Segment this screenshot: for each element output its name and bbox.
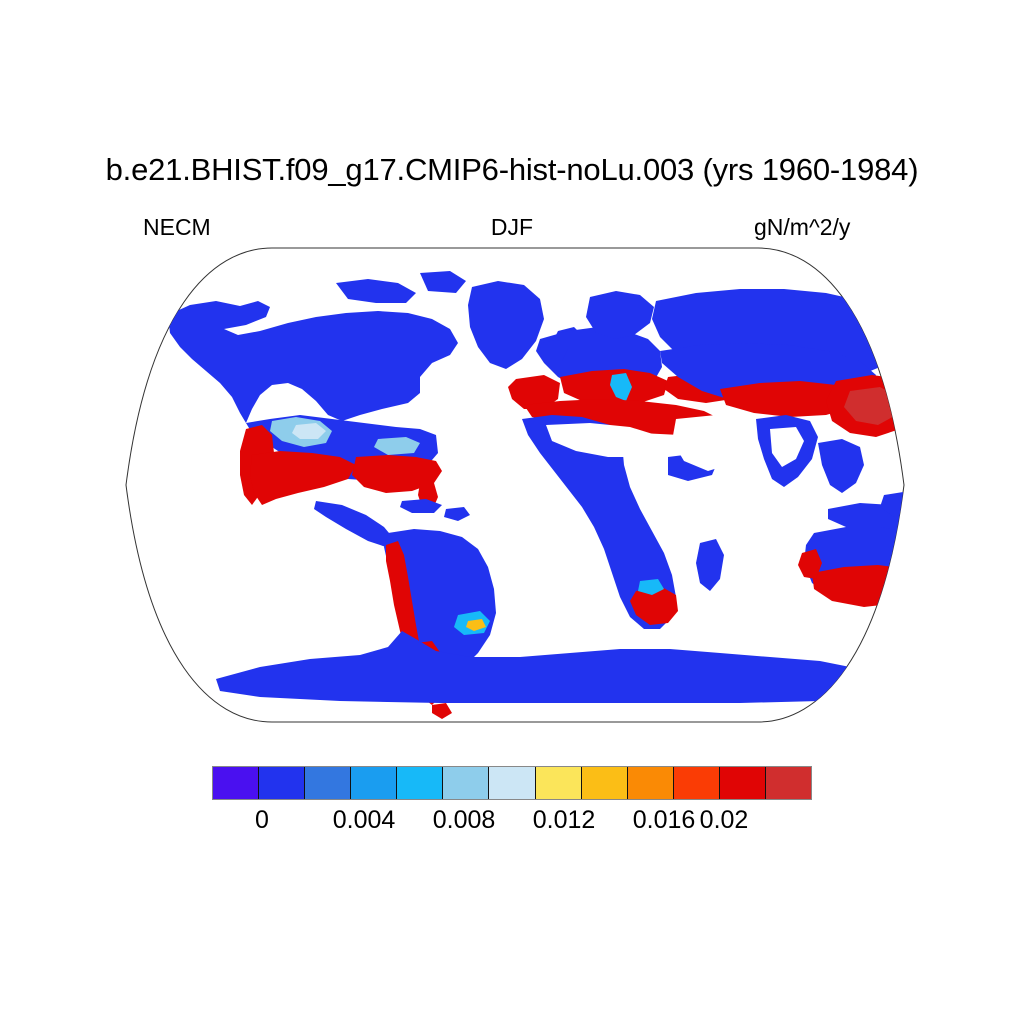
colorbar-tick-1: 0.004: [333, 806, 396, 835]
colorbar-cell-9: [582, 767, 628, 799]
season-label: DJF: [0, 214, 1024, 241]
colorbar-cell-6: [443, 767, 489, 799]
region-korea: [904, 381, 910, 403]
colorbar-cell-7: [489, 767, 535, 799]
colorbar-tick-5: 0.02: [700, 806, 749, 835]
world-map: [120, 243, 910, 728]
region-philippines: [906, 449, 910, 487]
colorbar-cell-5: [397, 767, 443, 799]
colorbar-cell-12: [720, 767, 766, 799]
colorbar-cell-11: [674, 767, 720, 799]
colorbar-cell-13: [766, 767, 811, 799]
colorbar-tick-labels: 0 0.004 0.008 0.012 0.016 0.02: [0, 806, 1024, 840]
colorbar-tick-2: 0.008: [433, 806, 496, 835]
colorbar-tick-4: 0.016: [633, 806, 696, 835]
map-svg: [120, 243, 910, 728]
colorbar-cell-4: [351, 767, 397, 799]
colorbar-cell-1: [213, 767, 259, 799]
colorbar-cell-10: [628, 767, 674, 799]
units-label: gN/m^2/y: [754, 214, 850, 241]
figure-title: b.e21.BHIST.f09_g17.CMIP6-hist-noLu.003 …: [0, 152, 1024, 188]
region-tasmania: [886, 611, 908, 627]
colorbar-cell-2: [259, 767, 305, 799]
figure-canvas: b.e21.BHIST.f09_g17.CMIP6-hist-noLu.003 …: [0, 0, 1024, 1024]
colorbar: [212, 766, 812, 800]
colorbar-tick-0: 0: [255, 806, 269, 835]
colorbar-tick-3: 0.012: [533, 806, 596, 835]
colorbar-cell-8: [536, 767, 582, 799]
colorbar-cell-3: [305, 767, 351, 799]
